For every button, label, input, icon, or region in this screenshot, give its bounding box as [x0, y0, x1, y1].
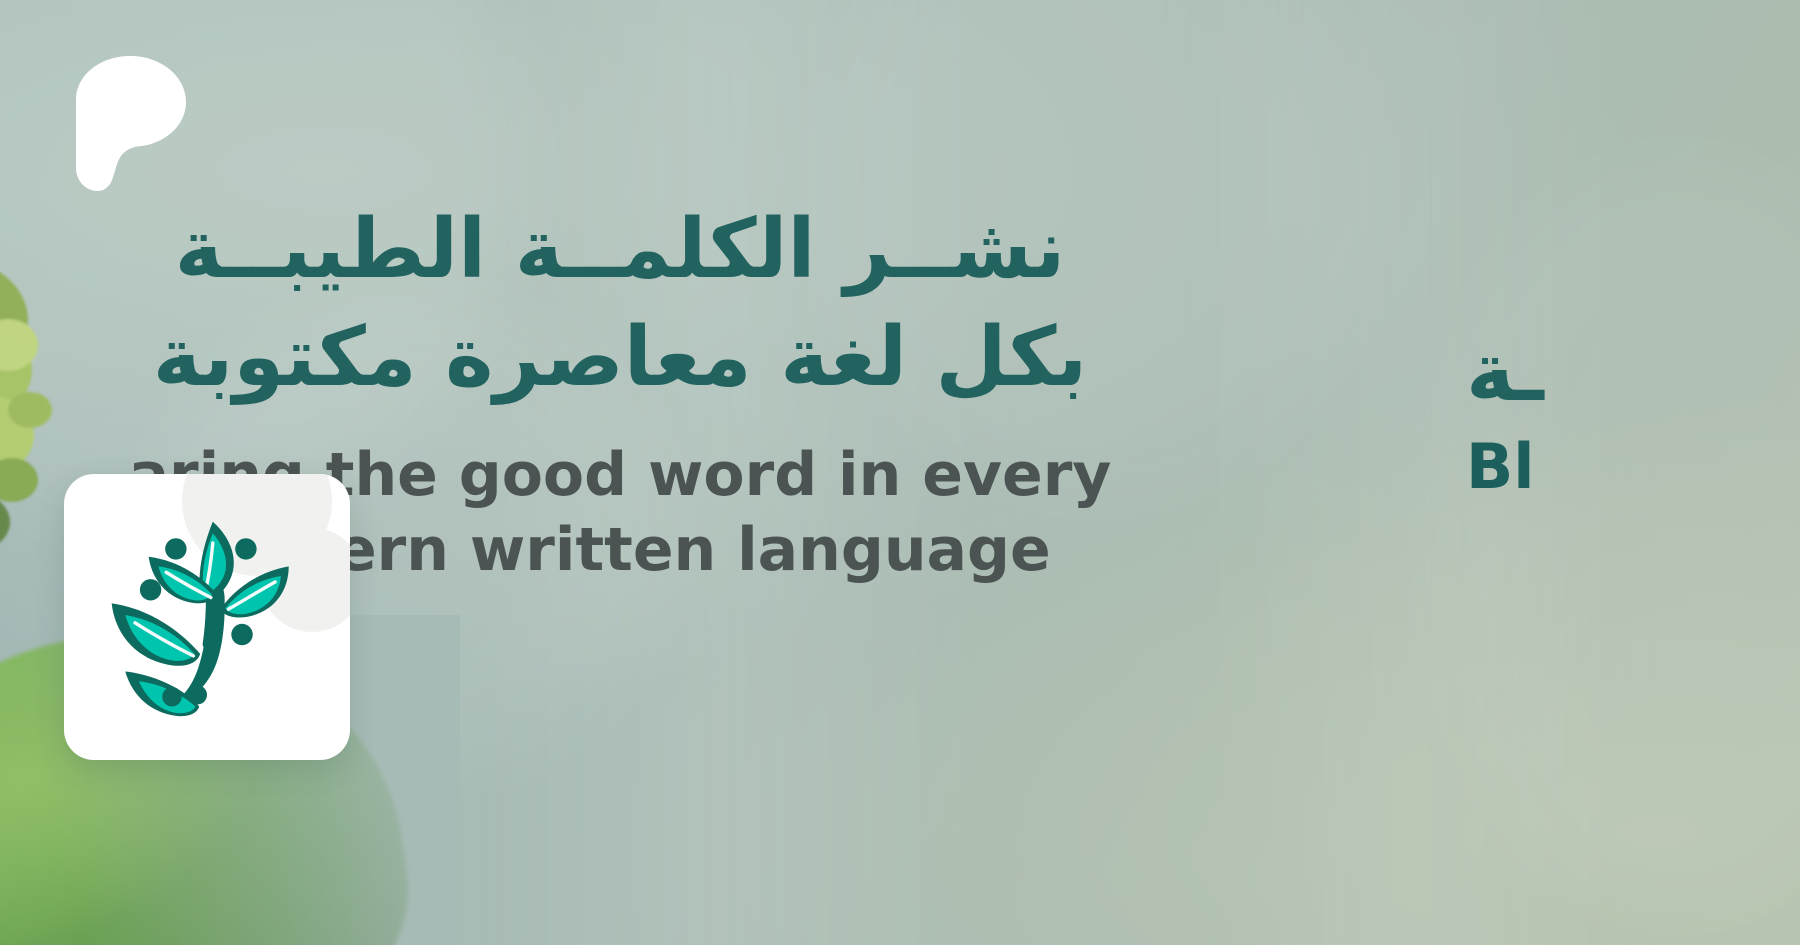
plant-sprout-logo-icon: [109, 510, 305, 724]
headline-arabic-line-2: بكل لغة معاصرة مكتوبة: [0, 304, 1240, 412]
creator-banner: نشــر الكلمــة الطيبــة بكل لغة معاصرة م…: [0, 0, 1800, 945]
patreon-logo-icon: [68, 56, 186, 191]
edge-overflow-text: ـة Bl: [1466, 330, 1800, 499]
avatar[interactable]: [64, 474, 350, 760]
edge-english-fragment: Bl: [1466, 434, 1800, 499]
edge-arabic-fragment: ـة: [1466, 330, 1800, 416]
headline-arabic-line-1: نشــر الكلمــة الطيبــة: [0, 196, 1240, 304]
